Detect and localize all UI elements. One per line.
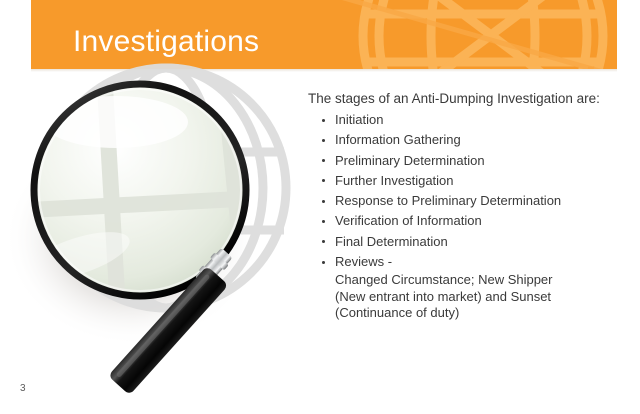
list-item: Initiation [308, 110, 632, 130]
list-item: Response to Preliminary Determination [308, 191, 632, 211]
list-item-sublines: Changed Circumstance; New Shipper (New e… [335, 272, 632, 322]
page-title: Investigations [73, 25, 259, 59]
magnifying-glass-illustration [8, 60, 338, 414]
bullet-icon [322, 119, 325, 122]
bullet-icon [322, 200, 325, 203]
bullet-icon [322, 179, 325, 182]
list-item-label: Initiation [335, 112, 383, 127]
list-item: Verification of Information [308, 211, 632, 231]
list-item-subline: Changed Circumstance; New Shipper [335, 272, 632, 289]
bullet-icon [322, 159, 325, 162]
list-item-label: Preliminary Determination [335, 153, 485, 168]
list-item: Reviews - Changed Circumstance; New Ship… [308, 252, 632, 322]
list-item-subline: (New entrant into market) and Sunset [335, 289, 632, 306]
list-item-label: Response to Preliminary Determination [335, 193, 561, 208]
list-item: Final Determination [308, 232, 632, 252]
title-banner: Investigations [31, 0, 617, 69]
page-number: 3 [20, 383, 26, 395]
bullet-icon [322, 220, 325, 223]
intro-line: The stages of an Anti-Dumping Investigat… [308, 89, 632, 108]
list-item: Preliminary Determination [308, 151, 632, 171]
list-item-label: Reviews - [335, 254, 392, 269]
list-item: Information Gathering [308, 130, 632, 150]
bullet-icon [322, 261, 325, 264]
list-item: Further Investigation [308, 171, 632, 191]
list-item-label: Information Gathering [335, 132, 461, 147]
list-item-label: Further Investigation [335, 173, 454, 188]
slide-canvas: Investigations [0, 0, 640, 414]
bullet-icon [322, 139, 325, 142]
bullet-icon [322, 240, 325, 243]
list-item-subline: (Continuance of duty) [335, 305, 632, 322]
list-item-label: Verification of Information [335, 213, 482, 228]
list-item-label: Final Determination [335, 234, 448, 249]
magnifier-svg [8, 60, 338, 414]
stages-list: Initiation Information Gathering Prelimi… [308, 110, 632, 322]
body-content: The stages of an Anti-Dumping Investigat… [308, 89, 632, 322]
